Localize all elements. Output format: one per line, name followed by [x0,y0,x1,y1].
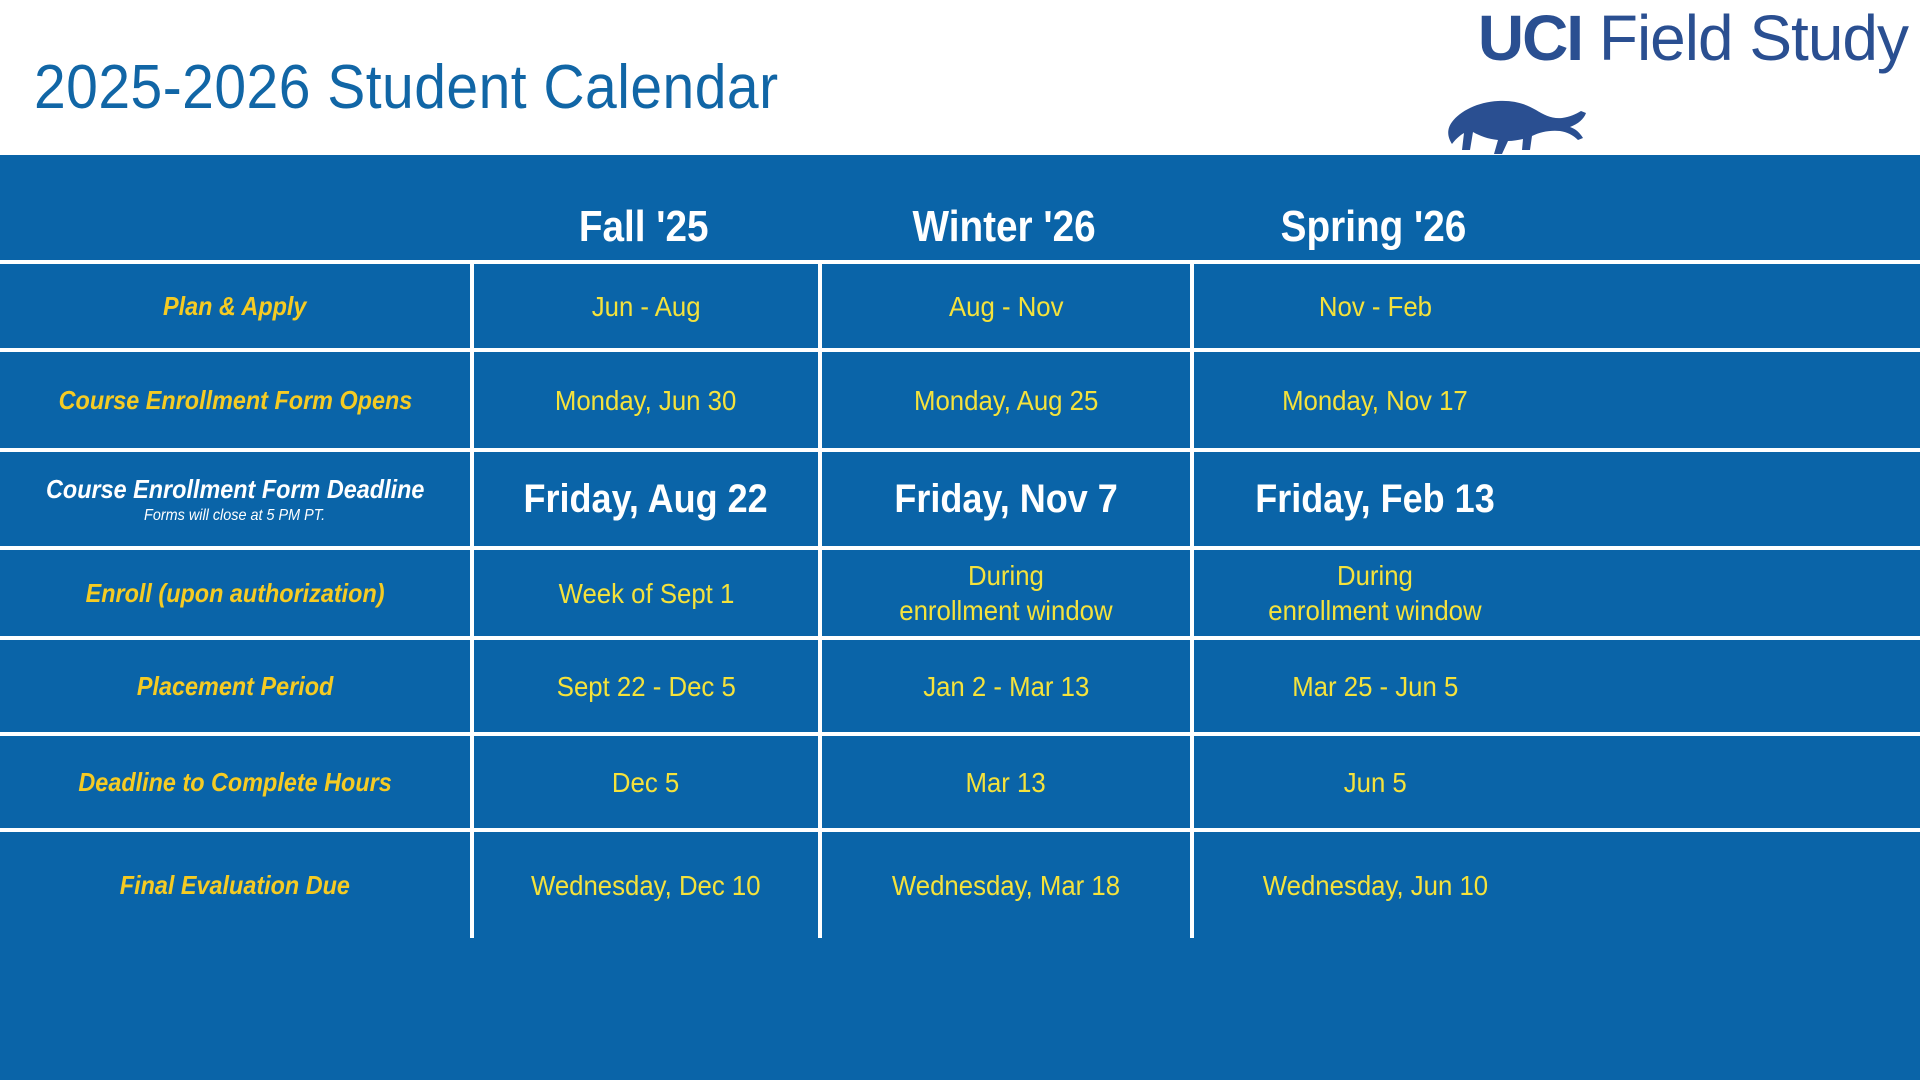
column-header-spring: Spring '26 [1190,155,1556,260]
row-value-winter: Jan 2 - Mar 13 [818,640,1190,732]
row-trailing-spacer [1556,640,1920,732]
row-value-spring: Mar 25 - Jun 5 [1190,640,1556,732]
row-value-winter: Wednesday, Mar 18 [818,832,1190,938]
row-label-cell: Enroll (upon authorization) [0,550,470,636]
calendar-header-row: Fall '25 Winter '26 Spring '26 [0,155,1920,260]
row-value-spring: Monday, Nov 17 [1190,352,1556,448]
anteater-silhouette-icon [1440,92,1590,154]
table-row: Course Enrollment Form Opens Monday, Jun… [0,348,1920,448]
table-row-highlighted: Course Enrollment Form Deadline Forms wi… [0,448,1920,546]
table-row: Enroll (upon authorization) Week of Sept… [0,546,1920,636]
row-trailing-spacer [1556,832,1920,938]
row-value-spring: Duringenrollment window [1190,550,1556,636]
row-label-cell: Placement Period [0,640,470,732]
row-trailing-spacer [1556,736,1920,828]
row-trailing-spacer [1556,550,1920,636]
column-header-winter: Winter '26 [818,155,1190,260]
row-value-fall: Wednesday, Dec 10 [470,832,818,938]
row-value-spring: Friday, Feb 13 [1190,452,1556,546]
table-row: Plan & Apply Jun - Aug Aug - Nov Nov - F… [0,260,1920,348]
row-value-fall: Jun - Aug [470,264,818,348]
row-value-spring: Jun 5 [1190,736,1556,828]
row-trailing-spacer [1556,264,1920,348]
column-header-fall: Fall '25 [470,155,818,260]
table-row: Final Evaluation Due Wednesday, Dec 10 W… [0,828,1920,938]
page-title: 2025-2026 Student Calendar [34,52,779,123]
table-row: Placement Period Sept 22 - Dec 5 Jan 2 -… [0,636,1920,732]
row-value-spring: Nov - Feb [1190,264,1556,348]
row-value-winter: Monday, Aug 25 [818,352,1190,448]
brand-lockup: UCI Field Study [1312,4,1912,154]
table-row: Deadline to Complete Hours Dec 5 Mar 13 … [0,732,1920,828]
row-value-fall: Dec 5 [470,736,818,828]
row-value-fall: Week of Sept 1 [470,550,818,636]
row-label-cell: Deadline to Complete Hours [0,736,470,828]
row-value-fall: Sept 22 - Dec 5 [470,640,818,732]
row-trailing-spacer [1556,352,1920,448]
calendar-page: 2025-2026 Student Calendar UCI Field Stu… [0,0,1920,1080]
row-value-winter: Duringenrollment window [818,550,1190,636]
brand-field-study-text: Field Study [1582,2,1908,74]
row-value-winter: Friday, Nov 7 [818,452,1190,546]
row-label-cell: Plan & Apply [0,264,470,348]
row-value-winter: Mar 13 [818,736,1190,828]
row-label-cell: Course Enrollment Form Deadline Forms wi… [0,452,470,546]
row-label-cell: Course Enrollment Form Opens [0,352,470,448]
brand-uci-text: UCI [1478,2,1582,74]
row-value-fall: Monday, Jun 30 [470,352,818,448]
row-trailing-spacer [1556,452,1920,546]
row-value-fall: Friday, Aug 22 [470,452,818,546]
calendar-table: Fall '25 Winter '26 Spring '26 Plan & Ap… [0,155,1920,1080]
row-label-cell: Final Evaluation Due [0,832,470,938]
brand-wordmark: UCI Field Study [1478,6,1908,70]
row-value-winter: Aug - Nov [818,264,1190,348]
calendar-body: Plan & Apply Jun - Aug Aug - Nov Nov - F… [0,260,1920,938]
row-label-note: Forms will close at 5 PM PT. [144,507,325,525]
row-value-spring: Wednesday, Jun 10 [1190,832,1556,938]
